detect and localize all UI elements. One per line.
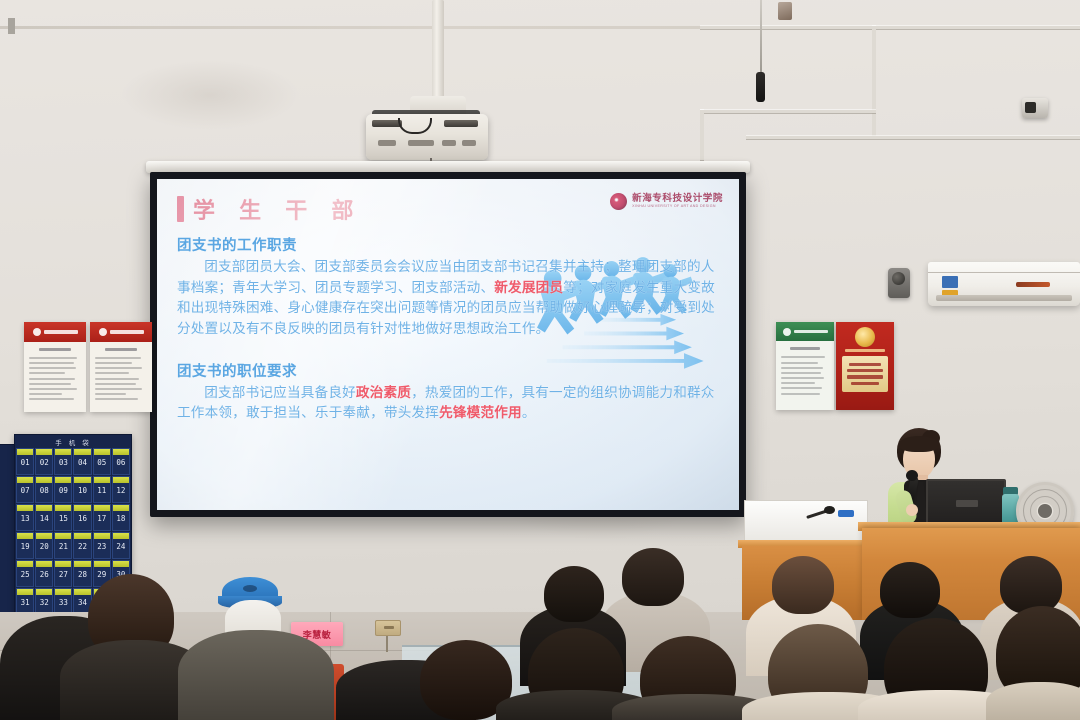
pocket-number: 09 — [55, 486, 71, 495]
pocket-number: 20 — [36, 542, 52, 551]
pocket-number: 23 — [94, 542, 110, 551]
pocket-number: 26 — [36, 570, 52, 579]
poster-body — [24, 342, 86, 412]
phone-pocket-16[interactable]: 16 — [73, 504, 91, 531]
pocket-flap — [74, 449, 90, 455]
projector-port — [408, 140, 434, 146]
para-run: 。 — [522, 405, 536, 420]
pocket-number: 19 — [17, 542, 33, 551]
pocket-flap — [36, 589, 52, 595]
poster-subtitle — [845, 349, 885, 352]
blue-marker — [838, 510, 854, 517]
phone-pocket-33[interactable]: 33 — [54, 588, 72, 615]
pocket-flap — [94, 477, 110, 483]
values-plate — [842, 356, 888, 392]
pocket-number: 33 — [55, 598, 71, 607]
cctv-camera — [1022, 98, 1048, 118]
antenna-base — [756, 72, 765, 102]
pocket-flap — [17, 449, 33, 455]
poster-header-text — [794, 330, 828, 334]
pocket-flap — [55, 533, 71, 539]
phone-pocket-06[interactable]: 06 — [112, 448, 130, 475]
pocket-number: 24 — [113, 542, 129, 551]
pocket-flap — [36, 561, 52, 567]
ac-display — [1016, 282, 1050, 287]
outlet-wire — [386, 636, 388, 652]
pocket-number: 06 — [113, 458, 129, 467]
title-accent-bar — [177, 196, 184, 222]
poster-header — [90, 322, 152, 342]
pocket-number: 32 — [36, 598, 52, 607]
pocket-flap — [36, 533, 52, 539]
pocket-number: 14 — [36, 514, 52, 523]
logo-text-block: 新海专科技设计学院 XINHAI UNIVERSITY OF ART AND D… — [632, 194, 723, 209]
pocket-number: 28 — [74, 570, 90, 579]
phone-pocket-18[interactable]: 18 — [112, 504, 130, 531]
para-run-highlight: 先锋模范作用 — [439, 405, 522, 420]
pocket-flap — [36, 505, 52, 511]
phone-pocket-01[interactable]: 01 — [16, 448, 34, 475]
pocket-number: 01 — [17, 458, 33, 467]
pocket-number: 10 — [74, 486, 90, 495]
poster-title — [790, 347, 820, 350]
section-heading-2: 团支书的职位要求 — [177, 360, 719, 381]
para-run-highlight: 政治素质 — [356, 385, 411, 400]
projector-pole — [432, 0, 444, 100]
wall-conduit-vertical — [872, 26, 876, 136]
pocket-number: 31 — [17, 598, 33, 607]
pocket-flap — [36, 449, 52, 455]
logo-name-cn: 新海专科技设计学院 — [632, 194, 723, 204]
projector-port — [442, 140, 456, 146]
whiteboard-panel — [744, 500, 868, 544]
slide-body: 团支书的工作职责 团支部团员大会、团支部委员会会议应当由团支部书记召集并主持；整… — [177, 234, 719, 424]
pocket-flap — [17, 561, 33, 567]
pocket-flap — [113, 561, 129, 567]
poster-right-green — [776, 322, 834, 410]
pocket-number: 15 — [55, 514, 71, 523]
poster-header-text — [44, 330, 78, 334]
phone-pocket-05[interactable]: 05 — [93, 448, 111, 475]
pocket-number: 03 — [55, 458, 71, 467]
university-logo: 新海专科技设计学院 XINHAI UNIVERSITY OF ART AND D… — [610, 193, 723, 210]
phone-pocket-22[interactable]: 22 — [73, 532, 91, 559]
pocket-number: 34 — [74, 598, 90, 607]
phone-pocket-02[interactable]: 02 — [35, 448, 53, 475]
phone-pocket-27[interactable]: 27 — [54, 560, 72, 587]
poster-body — [90, 342, 152, 412]
projector-vent — [444, 120, 478, 127]
pocket-flap — [74, 477, 90, 483]
pocket-flap — [113, 533, 129, 539]
phone-pocket-12[interactable]: 12 — [112, 476, 130, 503]
pocket-flap — [113, 505, 129, 511]
poster-header — [776, 322, 834, 341]
phone-pocket-23[interactable]: 23 — [93, 532, 111, 559]
microphone-head — [824, 506, 835, 514]
pocket-board-header: 手 机 袋 — [15, 435, 131, 448]
pocket-number: 16 — [74, 514, 90, 523]
microphone-capsule-icon — [906, 470, 918, 481]
antenna-rod — [760, 0, 762, 76]
camera-mount-arm — [8, 18, 15, 34]
pocket-flap — [55, 561, 71, 567]
presenter-hand — [906, 504, 918, 516]
pocket-flap — [94, 449, 110, 455]
phone-pocket-26[interactable]: 26 — [35, 560, 53, 587]
pocket-number: 07 — [17, 486, 33, 495]
pocket-flap — [74, 505, 90, 511]
pocket-board-label-2: 机 — [69, 437, 78, 447]
pocket-board-label-3: 袋 — [82, 437, 91, 447]
phone-pocket-11[interactable]: 11 — [93, 476, 111, 503]
cap-opening — [243, 585, 257, 592]
pocket-number: 21 — [55, 542, 71, 551]
pocket-number: 17 — [94, 514, 110, 523]
phone-pocket-03[interactable]: 03 — [54, 448, 72, 475]
projector-port — [462, 140, 476, 146]
pocket-flap — [74, 589, 90, 595]
phone-pocket-32[interactable]: 32 — [35, 588, 53, 615]
phone-pocket-07[interactable]: 07 — [16, 476, 34, 503]
phone-pocket-24[interactable]: 24 — [112, 532, 130, 559]
ceiling-conduit — [700, 26, 1080, 29]
pocket-number: 18 — [113, 514, 129, 523]
section-paragraph-2: 团支部书记应当具备良好政治素质，热爱团的工作，具有一定的组织协调能力和群众工作本… — [177, 383, 719, 424]
power-outlet[interactable] — [375, 620, 401, 636]
audience-head — [880, 562, 940, 618]
pocket-flap — [94, 505, 110, 511]
phone-pocket-09[interactable]: 09 — [54, 476, 72, 503]
audience-shoulders — [178, 630, 334, 720]
classroom-photo: 学 生 干 部 新海专科技设计学院 XINHAI UNIVERSITY OF A… — [0, 0, 1080, 720]
pocket-flap — [17, 589, 33, 595]
laptop-logo — [956, 500, 978, 507]
ac-label-sticker — [942, 276, 958, 288]
phone-pocket-04[interactable]: 04 — [73, 448, 91, 475]
pocket-number: 27 — [55, 570, 71, 579]
wall-plate — [778, 2, 792, 20]
projector-port — [378, 140, 396, 146]
pocket-number: 22 — [74, 542, 90, 551]
section-paragraph-1: 团支部团员大会、团支部委员会会议应当由团支部书记召集并主持；整理团支部的人事档案… — [177, 257, 719, 340]
audience-head — [544, 566, 604, 622]
wall-blemish — [120, 60, 300, 130]
pocket-flap — [17, 533, 33, 539]
poster-core-values — [836, 322, 894, 410]
ac-louver — [936, 295, 1072, 301]
phone-pocket-15[interactable]: 15 — [54, 504, 72, 531]
pocket-flap — [94, 561, 110, 567]
pocket-number: 11 — [94, 486, 110, 495]
phone-pocket-13[interactable]: 13 — [16, 504, 34, 531]
outlet-slot — [384, 626, 394, 629]
poster-body — [776, 341, 834, 410]
poster-emblem-icon — [33, 328, 41, 336]
pocket-flap — [55, 477, 71, 483]
pocket-flap — [55, 505, 71, 511]
poster-title — [105, 348, 137, 351]
phone-pocket-25[interactable]: 25 — [16, 560, 34, 587]
phone-pocket-28[interactable]: 28 — [73, 560, 91, 587]
logo-swirl-icon — [610, 193, 627, 210]
pocket-number: 04 — [74, 458, 90, 467]
poster-emblem-icon — [99, 328, 107, 336]
pocket-flap — [55, 449, 71, 455]
pocket-board-label-1: 手 — [55, 437, 64, 447]
phone-pocket-19[interactable]: 19 — [16, 532, 34, 559]
section-spacer — [177, 340, 719, 360]
pocket-flap — [74, 561, 90, 567]
poster-left-1 — [24, 322, 86, 412]
projection-screen: 学 生 干 部 新海专科技设计学院 XINHAI UNIVERSITY OF A… — [150, 172, 746, 517]
pocket-flap — [17, 477, 33, 483]
ac-seam — [928, 272, 1080, 273]
ptz-camera — [888, 268, 910, 298]
wall-conduit-lower — [746, 136, 1080, 139]
slide-title: 学 生 干 部 — [193, 193, 362, 225]
pocket-number: 02 — [36, 458, 52, 467]
para-run-highlight: 新发展团员 — [494, 280, 563, 295]
pocket-number: 13 — [17, 514, 33, 523]
poster-header — [24, 322, 86, 342]
presentation-slide: 学 生 干 部 新海专科技设计学院 XINHAI UNIVERSITY OF A… — [157, 179, 739, 510]
audience-shoulders — [986, 682, 1080, 720]
wall-conduit-drop — [700, 110, 704, 160]
pocket-flap — [36, 477, 52, 483]
pocket-number: 12 — [113, 486, 129, 495]
pocket-flap — [113, 477, 129, 483]
pocket-number: 25 — [17, 570, 33, 579]
phone-pocket-08[interactable]: 08 — [35, 476, 53, 503]
pocket-flap — [113, 449, 129, 455]
wall-conduit-horizontal — [700, 110, 876, 113]
laptop[interactable] — [926, 479, 1006, 525]
audience-head — [772, 556, 834, 614]
audience-head — [622, 548, 684, 606]
phone-pocket-14[interactable]: 14 — [35, 504, 53, 531]
para-run: 团支部书记应当具备良好 — [204, 385, 356, 400]
pocket-flap — [55, 589, 71, 595]
camera-lens-icon — [892, 272, 905, 285]
air-conditioner — [928, 262, 1080, 306]
pocket-flap — [74, 533, 90, 539]
pocket-number: 29 — [94, 570, 110, 579]
pocket-number: 05 — [94, 458, 110, 467]
presenter-fringe — [899, 436, 939, 452]
phone-pocket-31[interactable]: 31 — [16, 588, 34, 615]
poster-left-2 — [90, 322, 152, 412]
screen-surface: 学 生 干 部 新海专科技设计学院 XINHAI UNIVERSITY OF A… — [157, 179, 739, 510]
poster-title — [39, 348, 71, 351]
phone-pocket-20[interactable]: 20 — [35, 532, 53, 559]
pocket-number: 08 — [36, 486, 52, 495]
camera-lens-icon — [1025, 102, 1036, 113]
phone-pocket-21[interactable]: 21 — [54, 532, 72, 559]
phone-pocket-10[interactable]: 10 — [73, 476, 91, 503]
phone-pocket-17[interactable]: 17 — [93, 504, 111, 531]
pocket-flap — [17, 505, 33, 511]
poster-emblem-icon — [783, 328, 791, 336]
pocket-flap — [94, 533, 110, 539]
section-heading-1: 团支书的工作职责 — [177, 234, 719, 255]
logo-name-en: XINHAI UNIVERSITY OF ART AND DESIGN — [632, 205, 723, 209]
audience-head — [1000, 556, 1062, 614]
national-emblem-icon — [855, 327, 875, 347]
fan-hub — [1038, 504, 1052, 518]
poster-header-text — [110, 330, 144, 334]
